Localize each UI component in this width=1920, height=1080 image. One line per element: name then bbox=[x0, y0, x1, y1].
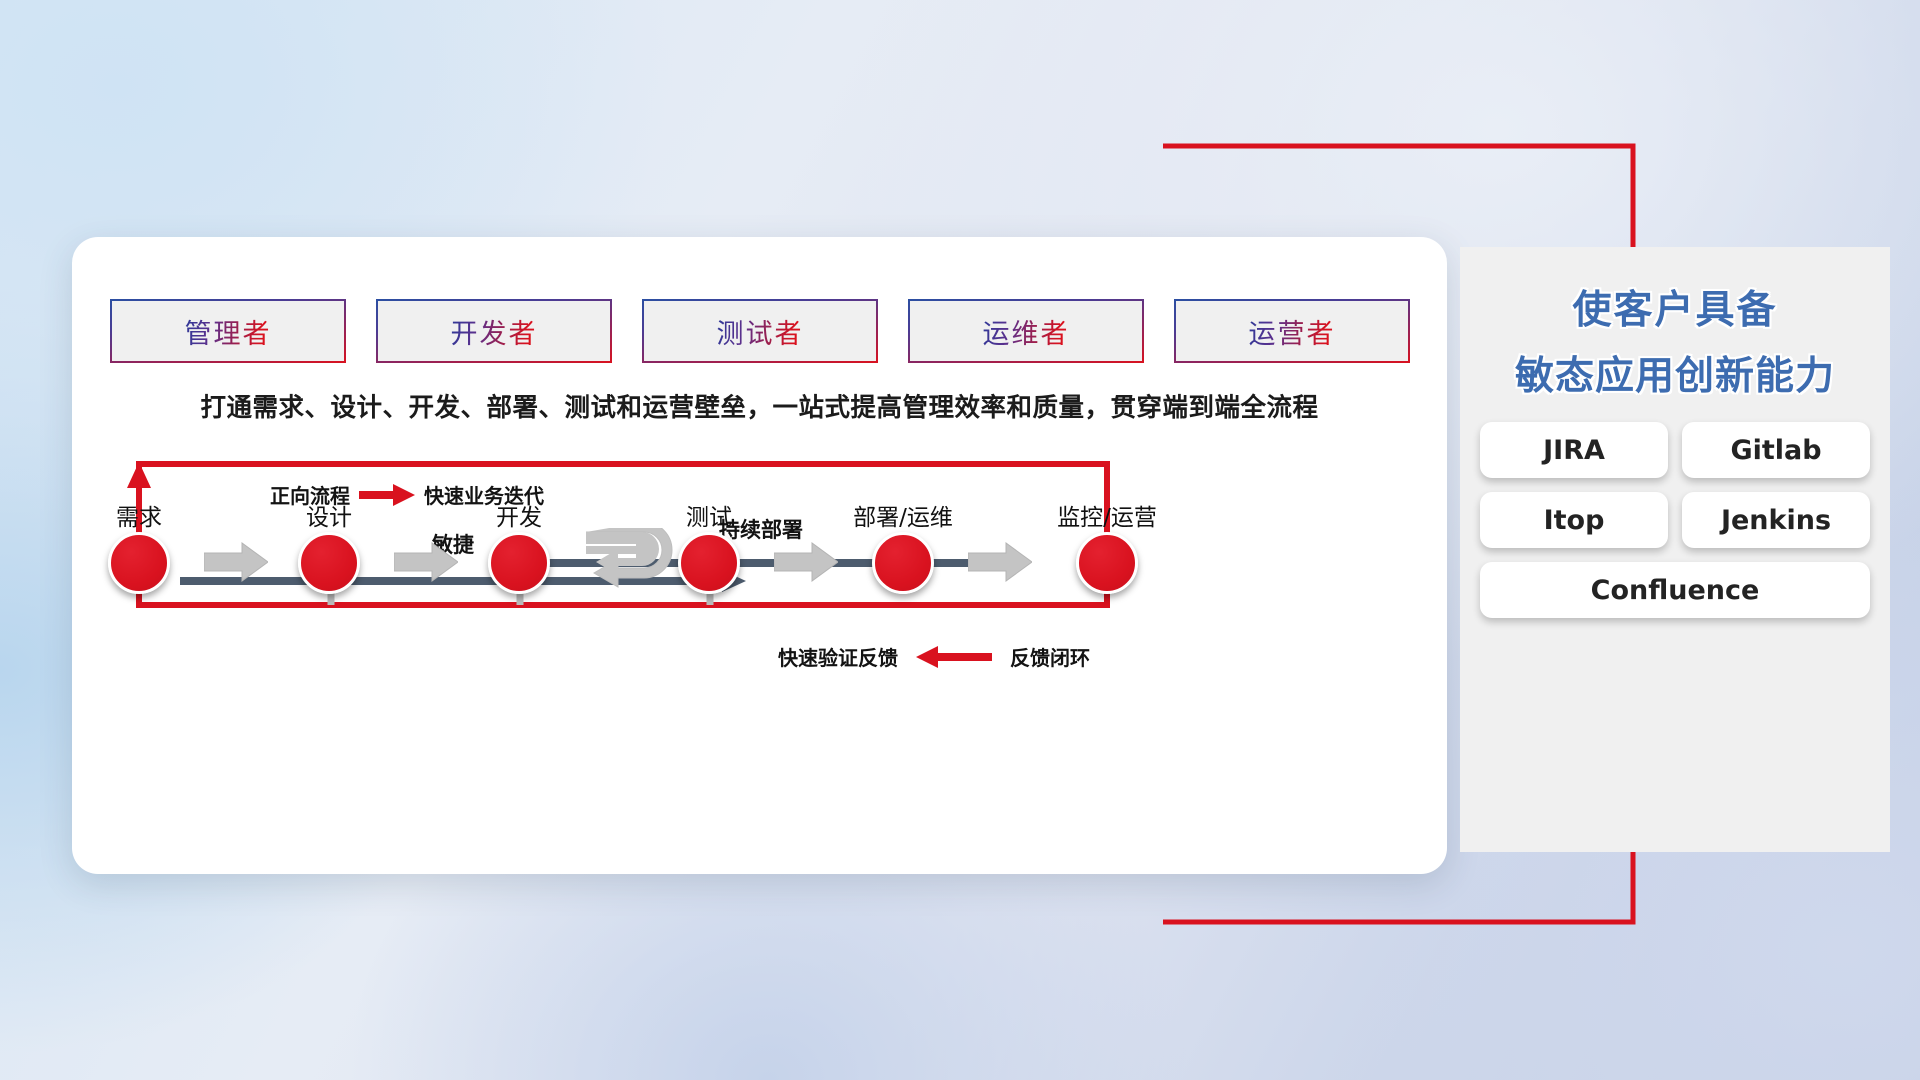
main-card: 管理者 开发者 测试者 运维者 运营者 打通需求、设计、开发、部署、测试和运营壁… bbox=[72, 237, 1447, 874]
pipeline-node-monitor-operations[interactable]: 监控/运营 bbox=[1076, 532, 1138, 594]
tool-chip-gitlab[interactable]: Gitlab bbox=[1682, 422, 1870, 478]
pipeline-node-dot bbox=[1076, 532, 1138, 594]
pipeline-node-test[interactable]: 测试 bbox=[678, 532, 740, 594]
role-button-row: 管理者 开发者 测试者 运维者 运营者 bbox=[110, 299, 1410, 363]
pipeline-node-label: 测试 bbox=[686, 498, 732, 532]
iteration-loop-arrow-icon bbox=[578, 528, 674, 594]
tool-chip-label: Confluence bbox=[1591, 575, 1760, 606]
pipeline-node-deploy-ops[interactable]: 部署/运维 bbox=[872, 532, 934, 594]
red-arrow-left-icon bbox=[916, 646, 992, 668]
pipeline: 需求 设计 开发 测试 bbox=[72, 492, 1447, 622]
panel-title-line2: 敏态应用创新能力 bbox=[1460, 345, 1890, 401]
tool-chip-list: JIRA Gitlab Itop Jenkins Confluence bbox=[1470, 422, 1880, 618]
role-button-operations[interactable]: 运营者 bbox=[1174, 299, 1410, 363]
feedback-right-label: 反馈闭环 bbox=[1010, 642, 1090, 671]
headline-text: 打通需求、设计、开发、部署、测试和运营壁垒，一站式提高管理效率和质量，贯穿端到端… bbox=[72, 387, 1447, 424]
pipeline-node-dot bbox=[108, 532, 170, 594]
pipeline-node-label: 开发 bbox=[496, 498, 542, 532]
pipeline-node-dot bbox=[678, 532, 740, 594]
feedback-legend: 快速验证反馈 反馈闭环 bbox=[778, 642, 1090, 671]
pipeline-node-label: 需求 bbox=[116, 498, 162, 532]
chevron-arrow-icon bbox=[204, 540, 268, 584]
role-label: 运营者 bbox=[1249, 312, 1336, 351]
pipeline-node-label: 部署/运维 bbox=[853, 498, 953, 532]
pipeline-node-dot bbox=[872, 532, 934, 594]
tool-chip-label: Jenkins bbox=[1721, 505, 1831, 536]
feedback-left-label: 快速验证反馈 bbox=[778, 642, 898, 671]
role-button-ops[interactable]: 运维者 bbox=[908, 299, 1144, 363]
tool-chip-label: Gitlab bbox=[1730, 435, 1821, 466]
role-button-tester[interactable]: 测试者 bbox=[642, 299, 878, 363]
role-label: 运维者 bbox=[983, 312, 1070, 351]
chevron-arrow-icon bbox=[394, 540, 458, 584]
chevron-arrow-icon bbox=[774, 540, 838, 584]
pipeline-node-design[interactable]: 设计 bbox=[298, 532, 360, 594]
tool-chip-jenkins[interactable]: Jenkins bbox=[1682, 492, 1870, 548]
pipeline-node-label: 监控/运营 bbox=[1057, 498, 1157, 532]
role-button-manager[interactable]: 管理者 bbox=[110, 299, 346, 363]
role-label: 测试者 bbox=[717, 312, 804, 351]
role-label: 开发者 bbox=[451, 312, 538, 351]
tool-chip-itop[interactable]: Itop bbox=[1480, 492, 1668, 548]
pipeline-node-dot bbox=[488, 532, 550, 594]
tool-chip-label: Itop bbox=[1544, 505, 1605, 536]
pipeline-node-development[interactable]: 开发 bbox=[488, 532, 550, 594]
pipeline-node-label: 设计 bbox=[306, 498, 352, 532]
tool-chip-jira[interactable]: JIRA bbox=[1480, 422, 1668, 478]
pipeline-node-requirement[interactable]: 需求 bbox=[108, 532, 170, 594]
right-panel: 使客户具备 敏态应用创新能力 JIRA Gitlab Itop Jenkins … bbox=[1460, 247, 1890, 852]
tool-chip-label: JIRA bbox=[1543, 435, 1605, 466]
pipeline-node-dot bbox=[298, 532, 360, 594]
role-button-developer[interactable]: 开发者 bbox=[376, 299, 612, 363]
panel-title-line1: 使客户具备 bbox=[1460, 279, 1890, 335]
tool-chip-confluence[interactable]: Confluence bbox=[1480, 562, 1870, 618]
role-label: 管理者 bbox=[185, 312, 272, 351]
chevron-arrow-icon bbox=[968, 540, 1032, 584]
